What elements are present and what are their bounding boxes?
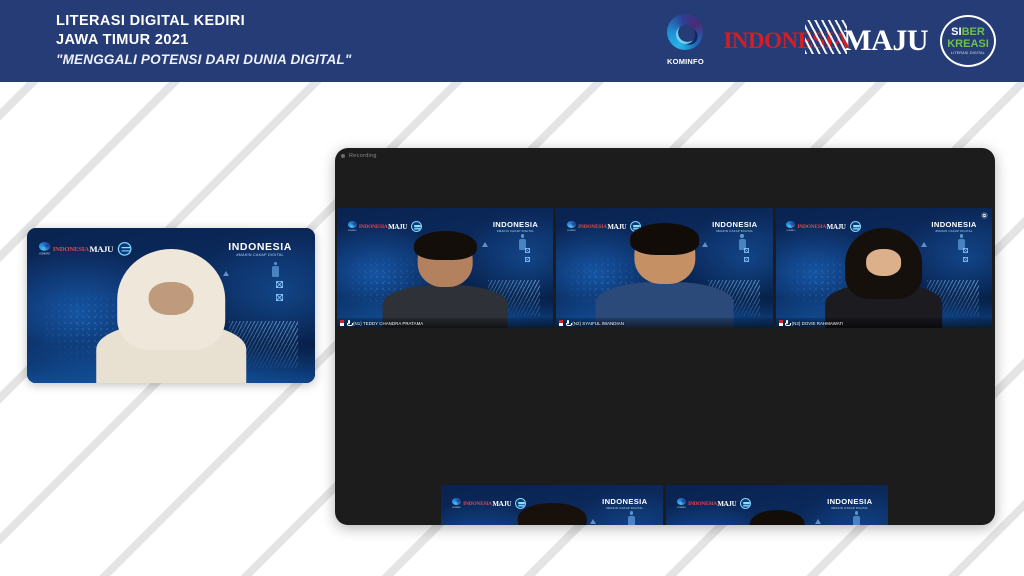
participant-name-bar: (N1) TEDDY CHANDRA PRATAMA (337, 318, 553, 328)
background-wordmark: INDONESIA #MAKIN CAKAP DIGITAL (827, 498, 872, 510)
participant-grid-row-bottom: KOMINFO INDONESIA MAJU INDONESIA #MAKIN … (441, 485, 889, 525)
background-kominfo-label: KOMINFO (567, 230, 576, 232)
background-glyph-x-icon (525, 248, 530, 253)
participant-hair (414, 231, 477, 261)
background-kominfo-icon: KOMINFO (677, 498, 686, 509)
background-glyph-column (525, 248, 530, 262)
background-glyph-x-icon (963, 248, 968, 253)
speaker-silhouette (96, 247, 246, 383)
background-wordmark-tagline: #MAKIN CAKAP DIGITAL (827, 507, 872, 510)
background-kominfo-label: KOMINFO (348, 230, 357, 232)
background-person-icon (853, 511, 860, 525)
background-kominfo-mark-icon (39, 242, 50, 251)
background-kominfo-icon: KOMINFO (39, 242, 50, 256)
participant-hair (749, 510, 805, 525)
participant-name: (N2) SYAIFUL IWANDIAN (572, 321, 624, 326)
background-kominfo-mark-icon (567, 221, 576, 228)
participant-silhouette (595, 222, 733, 328)
background-glyph-x-icon (276, 294, 283, 301)
background-kominfo-mark-icon (348, 221, 357, 228)
event-title-block: LITERASI DIGITAL KEDIRI JAWA TIMUR 2021 … (56, 12, 351, 70)
header-logo-group: KOMINFO INDONESIA MAJU SIBER KREASI LITE… (659, 11, 996, 71)
background-glyph-column (963, 248, 968, 262)
participant-silhouette (483, 502, 621, 525)
background-wordmark-title: INDONESIA (827, 498, 872, 506)
background-kominfo-label: KOMINFO (677, 507, 686, 509)
participant-silhouette (382, 230, 507, 328)
background-glyph-column (744, 248, 749, 262)
background-kominfo-icon: KOMINFO (348, 221, 357, 232)
recording-dot-icon (341, 154, 345, 158)
siber-kreasi-subtitle: LITERASI DIGITAL (951, 52, 985, 56)
participant-grid-row-top: KOMINFO INDONESIA MAJU INDONESIA #MAKIN … (337, 208, 993, 480)
siber-kreasi-logo-icon: SIBER KREASI LITERASI DIGITAL (940, 15, 996, 67)
background-maju-label: MAJU (717, 500, 736, 508)
background-indonesia-label: INDONESIA (52, 245, 88, 253)
pin-participant-icon[interactable]: ⧉ (981, 212, 988, 219)
background-kominfo-label: KOMINFO (39, 253, 50, 256)
event-title-line1: LITERASI DIGITAL KEDIRI (56, 12, 351, 31)
background-glyph-x-icon (744, 257, 749, 262)
participant-hair (518, 503, 587, 525)
participant-tile[interactable]: KOMINFO INDONESIA MAJU INDONESIA #MAKIN … (556, 208, 772, 328)
speaker-video-tile[interactable]: KOMINFO INDONESIA MAJU INDONESIA #MAKIN … (27, 228, 315, 383)
participant-face (866, 249, 901, 275)
indonesia-maju-logo-icon: INDONESIA MAJU (723, 21, 928, 61)
background-logo-group: KOMINFO INDONESIA MAJU (677, 498, 751, 509)
background-kominfo-mark-icon (677, 498, 686, 505)
participant-tile[interactable]: KOMINFO INDONESIA MAJU INDONESIA #MAKIN … (337, 208, 553, 328)
microphone-icon (785, 320, 789, 327)
indonesia-maju-indonesia-label: INDONESIA (723, 28, 849, 54)
participant-name: (N1) TEDDY CHANDRA PRATAMA (353, 321, 423, 326)
kominfo-logo-label: KOMINFO (659, 57, 711, 66)
background-glyph-x-icon (525, 257, 530, 262)
participant-name-bar: (N3) DOVIE RAHMAWATI (776, 318, 992, 328)
background-kominfo-mark-icon (786, 221, 795, 228)
background-siber-kreasi-icon (740, 498, 751, 509)
flag-icon (779, 320, 783, 326)
background-kominfo-label: KOMINFO (786, 230, 795, 232)
siber-kreasi-line1: SIBER (951, 27, 985, 38)
kominfo-logo-icon: KOMINFO (659, 12, 711, 70)
participant-silhouette (722, 509, 833, 525)
background-kominfo-label: KOMINFO (452, 507, 461, 509)
video-conference-window[interactable]: Recording KOMINFO INDONESIA MAJU (335, 148, 995, 525)
event-title-line2: JAWA TIMUR 2021 (56, 31, 351, 50)
siber-kreasi-si-label: SI (951, 26, 961, 38)
speaker-face (149, 282, 194, 315)
participant-name-bar: (N2) SYAIFUL IWANDIAN (556, 318, 772, 328)
recording-indicator: Recording (341, 153, 377, 159)
background-indonesia-label: INDONESIA (688, 501, 717, 507)
participant-silhouette (825, 227, 942, 328)
kominfo-mark-icon (667, 14, 703, 50)
background-glyph-x-icon (744, 248, 749, 253)
active-speaker-panel[interactable]: KOMINFO INDONESIA MAJU INDONESIA #MAKIN … (27, 228, 315, 383)
flag-icon (559, 320, 563, 326)
participant-tile[interactable]: KOMINFO INDONESIA MAJU INDONESIA #MAKIN … (666, 485, 888, 525)
background-kominfo-icon: KOMINFO (567, 221, 576, 232)
microphone-icon (347, 320, 351, 327)
participant-hair (630, 223, 699, 255)
background-kominfo-icon: KOMINFO (452, 498, 461, 509)
microphone-icon (566, 320, 570, 327)
background-kominfo-icon: KOMINFO (786, 221, 795, 232)
event-tagline: "MENGGALI POTENSI DARI DUNIA DIGITAL" (56, 50, 351, 70)
siber-kreasi-ber-label: BER (962, 26, 985, 38)
indonesia-maju-maju-label: MAJU (843, 24, 928, 58)
participant-name: (N3) DOVIE RAHMAWATI (792, 321, 844, 326)
flag-icon (340, 320, 344, 326)
background-person-icon (272, 262, 279, 280)
participant-tile[interactable]: KOMINFO INDONESIA MAJU INDONESIA #MAKIN … (776, 208, 992, 328)
participant-tile[interactable]: KOMINFO INDONESIA MAJU INDONESIA #MAKIN … (441, 485, 663, 525)
background-glyph-x-icon (276, 281, 283, 288)
header-banner: LITERASI DIGITAL KEDIRI JAWA TIMUR 2021 … (0, 0, 1024, 82)
background-wordmark-title: INDONESIA (493, 221, 538, 229)
background-glyph-column (276, 281, 283, 301)
background-indonesia-label: INDONESIA (797, 224, 826, 230)
siber-kreasi-kreasi-label: KREASI (947, 39, 989, 50)
background-kominfo-mark-icon (452, 498, 461, 505)
recording-label: Recording (349, 153, 377, 159)
background-glyph-x-icon (963, 257, 968, 262)
background-person-icon (628, 511, 635, 525)
